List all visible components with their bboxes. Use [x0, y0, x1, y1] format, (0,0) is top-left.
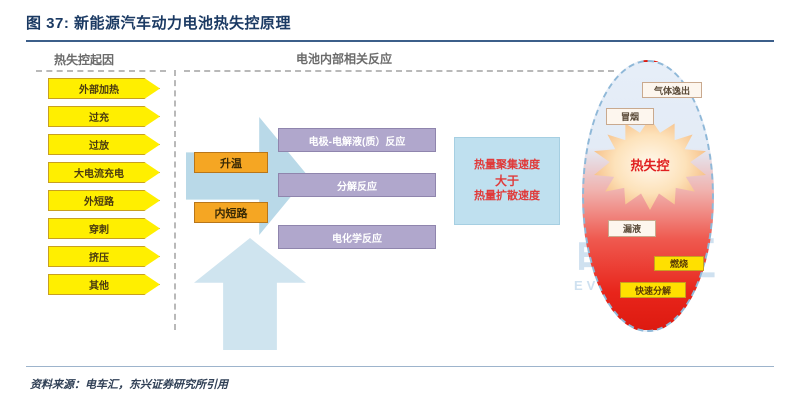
cause-label: 穿刺	[89, 221, 109, 236]
reaction-box: 分解反应	[278, 173, 436, 197]
cause-label: 挤压	[89, 249, 109, 264]
cause-label: 外部加热	[79, 81, 119, 96]
flow-arrow-up-icon	[194, 238, 306, 350]
causes-heading: 热失控起因	[54, 51, 114, 68]
reactions-heading: 电池内部相关反应	[296, 50, 392, 67]
trigger-box: 升温	[194, 152, 268, 173]
outcome-label-text: 漏液	[623, 222, 641, 235]
outcome-label-smoke: 冒烟	[606, 108, 654, 125]
outcome-label-decomposition: 快速分解	[620, 282, 686, 298]
cause-item: 外短路	[48, 190, 160, 211]
dashed-rule-right	[184, 70, 614, 72]
reaction-box: 电极-电解液(质）反应	[278, 128, 436, 152]
cause-item: 过放	[48, 134, 160, 155]
outcome-label-text: 冒烟	[621, 110, 639, 123]
outcome-label-gas: 气体逸出	[642, 82, 702, 98]
cause-label: 大电流充电	[74, 165, 124, 180]
outcome-label-combustion: 燃烧	[654, 256, 704, 271]
condition-line-2: 大于	[474, 173, 540, 189]
cause-item: 外部加热	[48, 78, 160, 99]
condition-text: 热量聚集速度 大于 热量扩散速度	[474, 158, 540, 204]
cause-label: 过放	[89, 137, 109, 152]
trigger-box: 内短路	[194, 202, 268, 223]
cause-item: 其他	[48, 274, 160, 295]
diagram-canvas: 电车汇 EVHUB 热失控起因 电池内部相关反应 外部加热 过充 过放 大电流充…	[26, 42, 774, 360]
source-note: 资料来源：电车汇，东兴证券研究所引用	[30, 376, 228, 392]
condition-panel: 热量聚集速度 大于 热量扩散速度	[454, 137, 560, 225]
condition-line-3: 热量扩散速度	[474, 189, 540, 204]
cause-item: 大电流充电	[48, 162, 160, 183]
page-title: 图 37: 新能源汽车动力电池热失控原理	[26, 12, 774, 33]
reaction-label: 电极-电解液(质）反应	[309, 133, 406, 148]
outcome-label-leak: 漏液	[608, 220, 656, 237]
cause-item: 穿刺	[48, 218, 160, 239]
dashed-rule-left	[36, 70, 166, 72]
outcome-label-text: 快速分解	[635, 284, 671, 297]
outcome-label-text: 燃烧	[670, 257, 688, 270]
reaction-label: 电化学反应	[332, 230, 382, 245]
footer-divider	[26, 366, 774, 367]
trigger-label: 升温	[220, 155, 242, 171]
trigger-label: 内短路	[215, 205, 248, 221]
cause-item: 过充	[48, 106, 160, 127]
dashed-rule-vertical	[174, 70, 176, 330]
outcome-ellipse: 热失控 气体逸出 冒烟 漏液 燃烧 快速分解	[582, 60, 714, 332]
reaction-box: 电化学反应	[278, 225, 436, 249]
cause-label: 其他	[89, 277, 109, 292]
cause-label: 过充	[89, 109, 109, 124]
thermal-runaway-label: 热失控	[630, 155, 669, 174]
condition-line-1: 热量聚集速度	[474, 158, 540, 173]
reaction-label: 分解反应	[337, 178, 377, 193]
cause-item: 挤压	[48, 246, 160, 267]
outcome-label-text: 气体逸出	[654, 84, 690, 97]
cause-label: 外短路	[84, 193, 114, 208]
causes-list: 外部加热 过充 过放 大电流充电 外短路 穿刺 挤压 其他	[48, 78, 160, 302]
figure-header: 图 37: 新能源汽车动力电池热失控原理	[26, 12, 774, 42]
